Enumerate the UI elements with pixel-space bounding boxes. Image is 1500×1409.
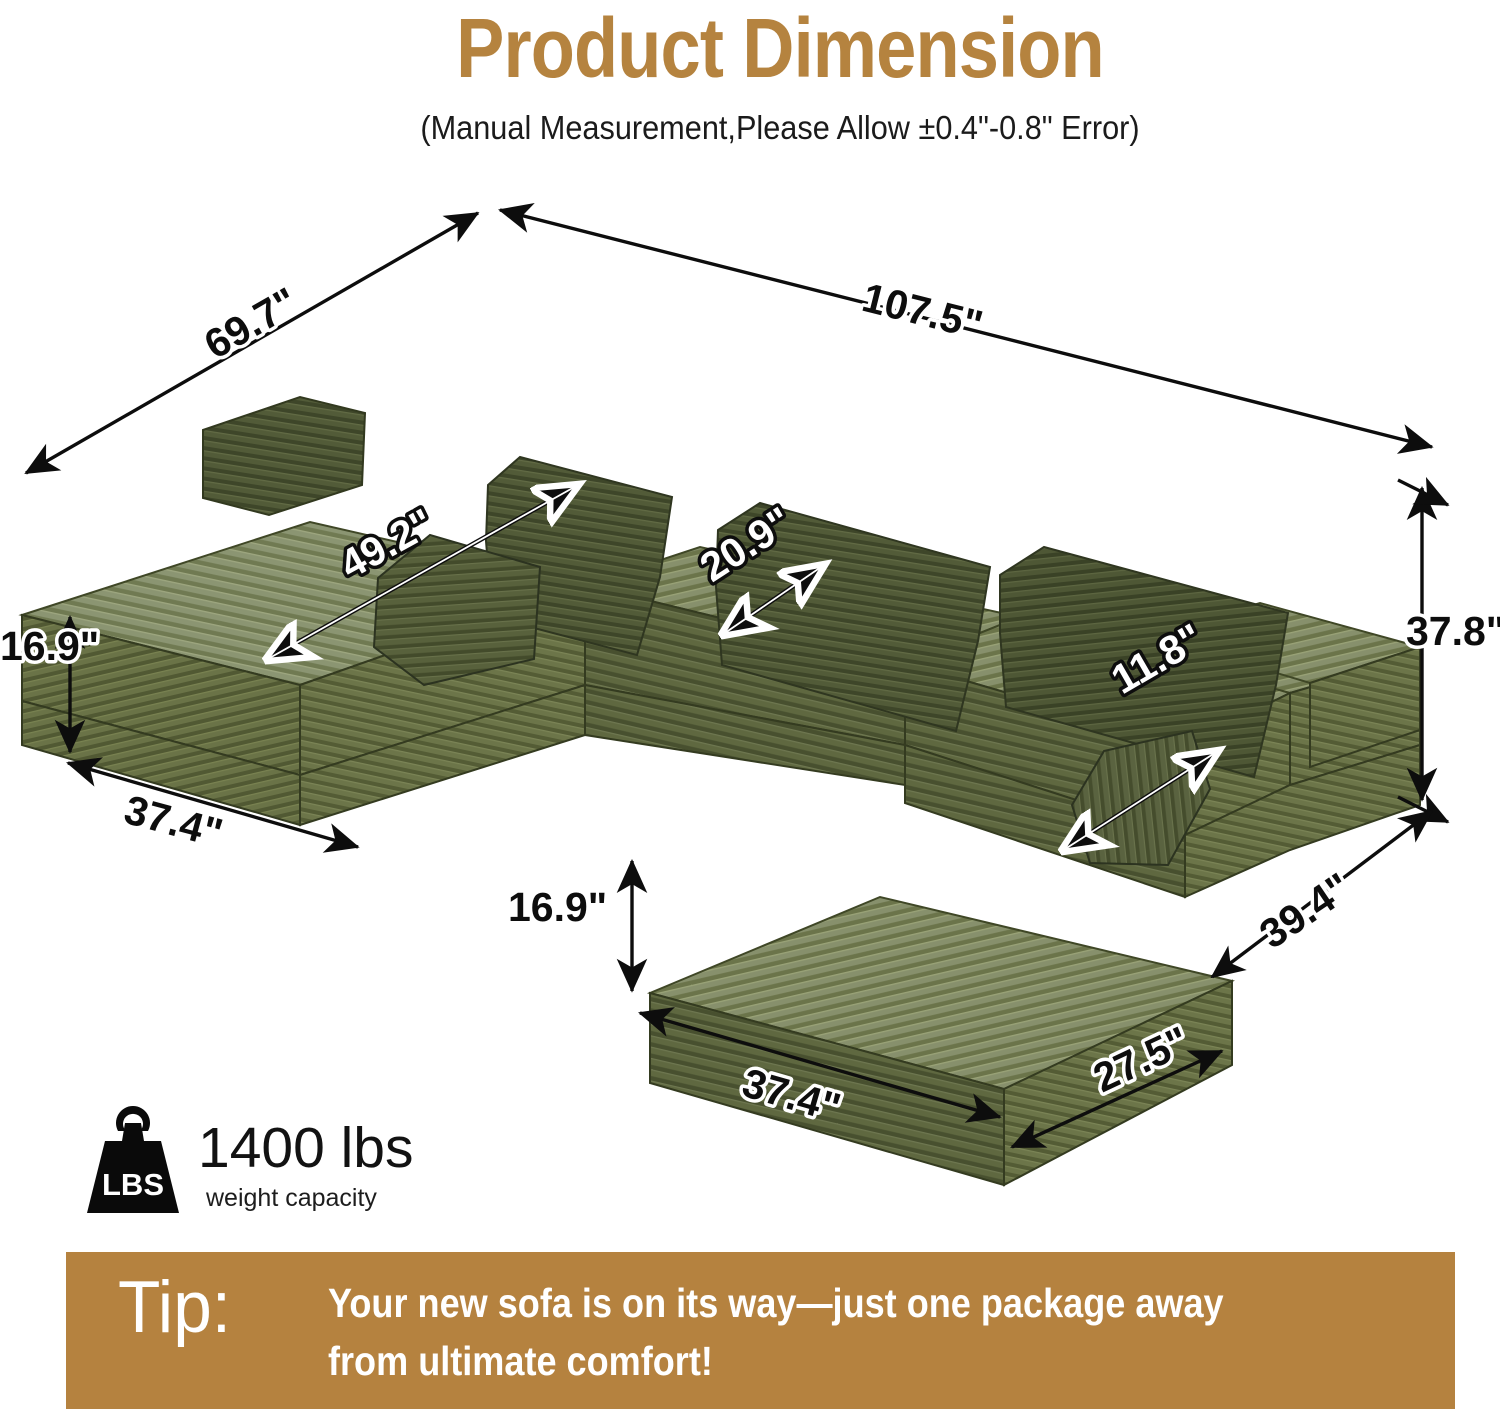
dim-ottoman-height: 16.9" <box>508 861 632 991</box>
product-dimension-infographic: Product Dimension (Manual Measurement,Pl… <box>0 0 1500 1409</box>
page-title: Product Dimension <box>109 2 1451 94</box>
weight-capacity-caption: weight capacity <box>206 1183 377 1213</box>
dim-width-overall: 107.5" <box>500 210 1432 447</box>
dim-label-ottoman-height: 16.9" <box>508 884 607 930</box>
tip-banner: Tip: Your new sofa is on its way—just on… <box>66 1252 1455 1409</box>
weight-lbs-icon: LBS <box>78 1101 188 1219</box>
dim-label-depth-overall: 69.7" <box>197 278 306 367</box>
weight-icon-text: LBS <box>102 1167 164 1202</box>
dim-label-chaise-seat-height: 16.9" <box>0 623 99 669</box>
dim-label-height-overall: 37.8" <box>1406 608 1500 654</box>
weight-capacity-value: 1400 lbs <box>198 1117 414 1179</box>
tip-label: Tip: <box>118 1268 231 1348</box>
sofa-illustration: 69.7" 107.5" 49.2" 20.9" <box>0 185 1500 1205</box>
measurement-disclaimer: (Manual Measurement,Please Allow ±0.4"-0… <box>55 108 1500 148</box>
tip-text: Your new sofa is on its way—just one pac… <box>328 1274 1305 1390</box>
sofa-graphic <box>22 397 1420 1185</box>
weight-capacity-badge: LBS 1400 lbs weight capacity <box>78 1095 498 1225</box>
dim-label-width-overall: 107.5" <box>858 274 988 348</box>
